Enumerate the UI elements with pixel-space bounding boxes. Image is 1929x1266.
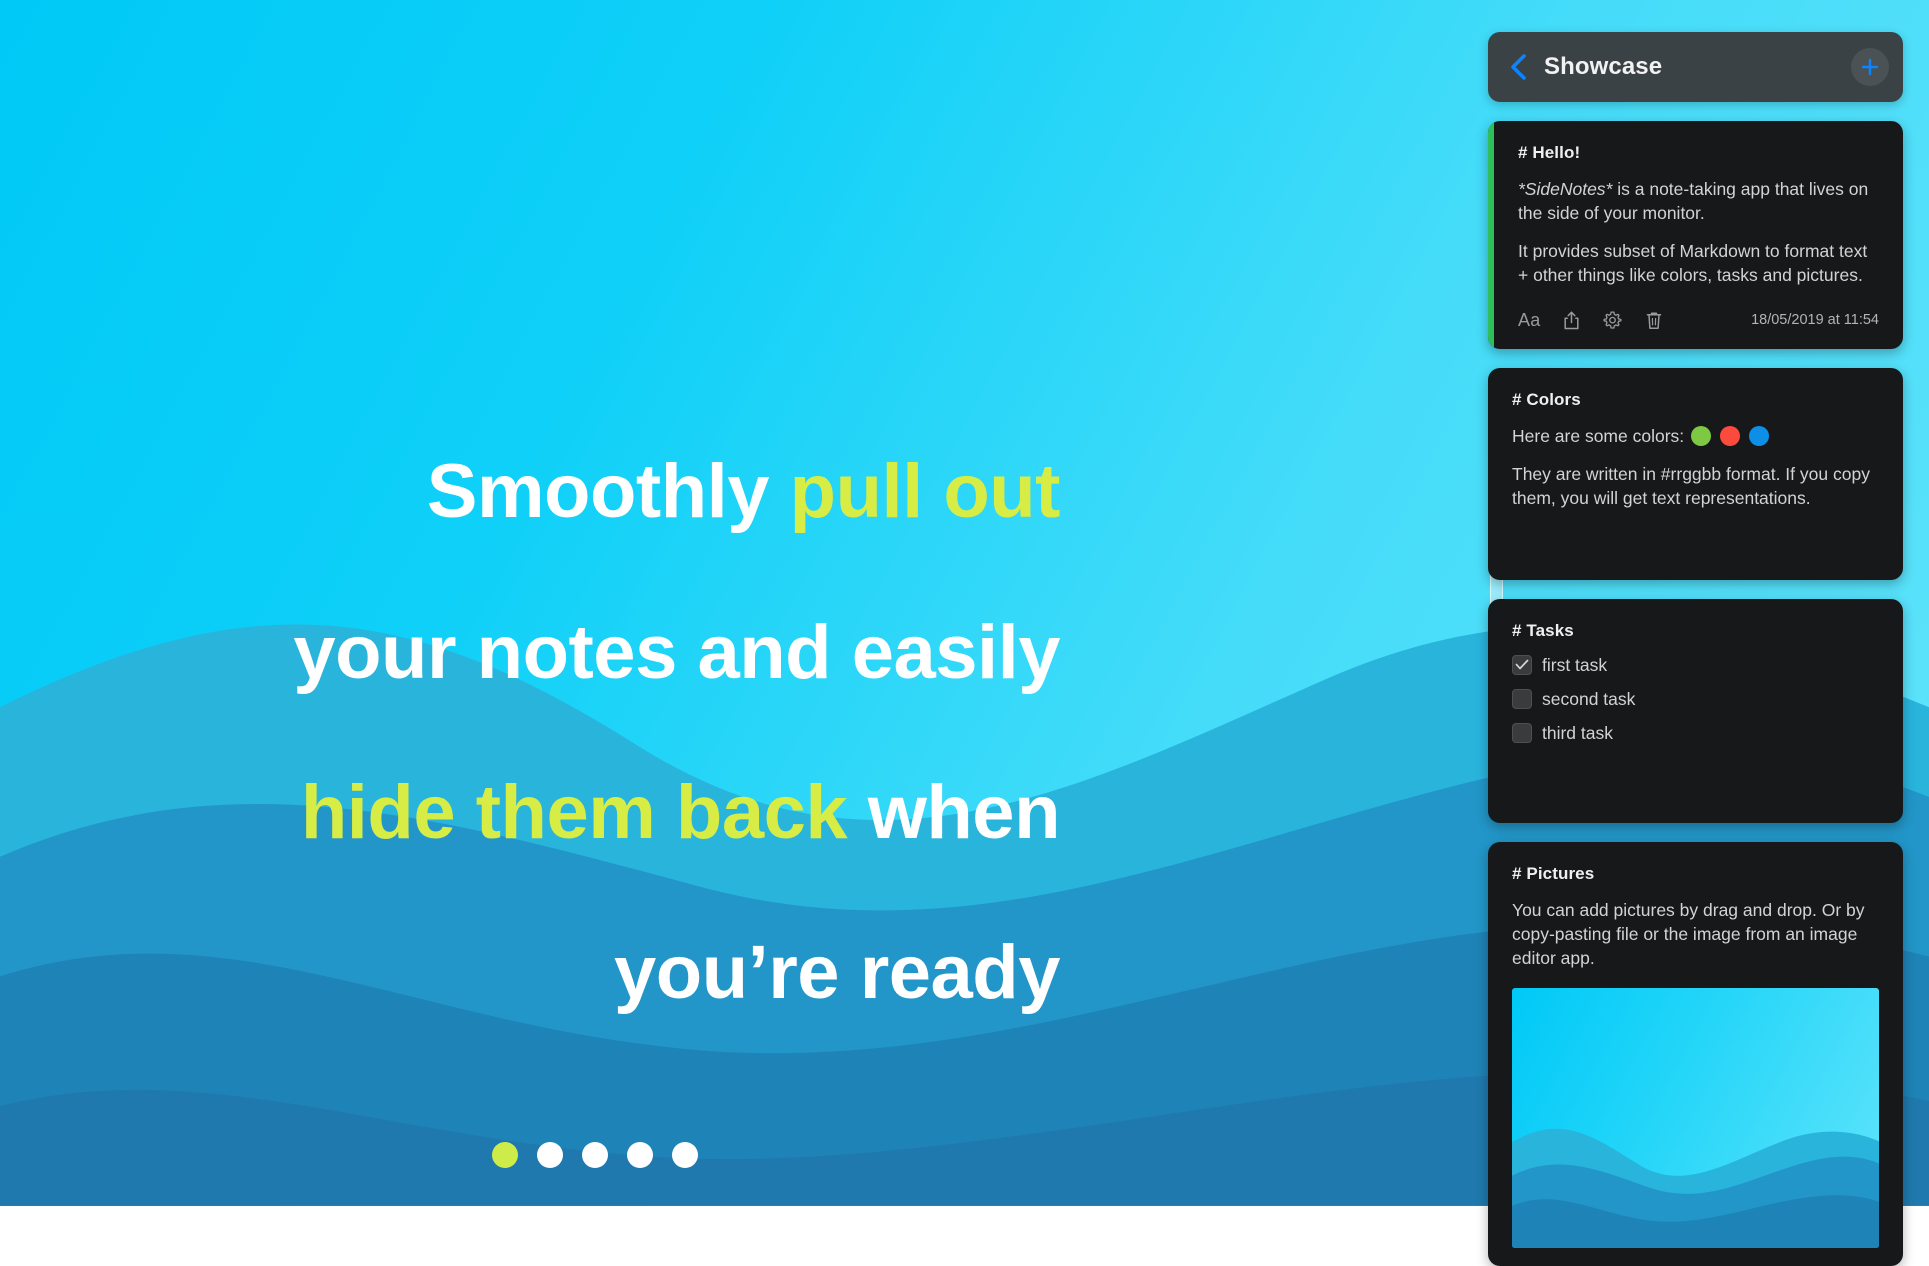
note-heading: # Hello!: [1518, 143, 1879, 163]
note-paragraph: *SideNotes* is a note-taking app that li…: [1518, 177, 1879, 225]
gear-icon[interactable]: [1603, 310, 1623, 331]
note-paragraph: Here are some colors:: [1512, 424, 1879, 448]
note-accent-bar: [1488, 121, 1494, 349]
color-swatch-blue[interactable]: [1749, 426, 1769, 446]
checkbox-unchecked[interactable]: [1512, 723, 1532, 743]
color-swatch-red[interactable]: [1720, 426, 1740, 446]
note-card-pictures[interactable]: # Pictures You can add pictures by drag …: [1488, 842, 1903, 1266]
task-item[interactable]: second task: [1512, 689, 1879, 710]
task-item[interactable]: third task: [1512, 723, 1879, 744]
note-paragraph: They are written in #rrggbb format. If y…: [1512, 462, 1879, 510]
add-note-button[interactable]: [1851, 48, 1889, 86]
headline-line1-plain: Smoothly: [427, 449, 790, 534]
task-label: first task: [1542, 655, 1607, 676]
headline-line-4: you’re ready: [614, 930, 1060, 1015]
page-title: Smoothly pull out your notes and easily …: [0, 372, 1060, 1013]
task-label: third task: [1542, 723, 1613, 744]
note-heading: # Pictures: [1512, 864, 1879, 884]
note-timestamp: 18/05/2019 at 11:54: [1751, 312, 1879, 328]
pager-dot-2[interactable]: [537, 1142, 563, 1168]
headline-line1-highlight: pull out: [790, 449, 1060, 534]
note-heading: # Colors: [1512, 390, 1879, 410]
color-swatch-green[interactable]: [1691, 426, 1711, 446]
note-italic-text: *SideNotes*: [1518, 179, 1612, 199]
pager-dot-1[interactable]: [492, 1142, 518, 1168]
note-card-tasks[interactable]: # Tasks first task second task third tas…: [1488, 599, 1903, 823]
pager-dot-5[interactable]: [672, 1142, 698, 1168]
share-icon[interactable]: [1562, 310, 1582, 331]
headline-line3-highlight: hide them back: [301, 770, 847, 855]
note-card-colors[interactable]: # Colors Here are some colors: They are …: [1488, 368, 1903, 580]
headline-line-1: Smoothly pull out: [427, 449, 1060, 534]
headline-line3-plain: when: [847, 770, 1060, 855]
headline-line-2: your notes and easily: [293, 610, 1060, 695]
panel-header: Showcase: [1488, 32, 1903, 102]
checkbox-unchecked[interactable]: [1512, 689, 1532, 709]
color-swatch-group: [1691, 426, 1769, 446]
note-tool-group: Aa: [1518, 310, 1664, 331]
panel-title: Showcase: [1544, 53, 1851, 81]
trash-icon[interactable]: [1644, 310, 1664, 331]
embedded-image-waves: [1512, 1087, 1879, 1248]
colors-intro-text: Here are some colors:: [1512, 426, 1684, 446]
embedded-image[interactable]: [1512, 988, 1879, 1248]
check-icon: [1515, 659, 1529, 671]
plus-icon: [1860, 57, 1880, 77]
checkbox-checked[interactable]: [1512, 655, 1532, 675]
task-item[interactable]: first task: [1512, 655, 1879, 676]
headline-line-3: hide them back when: [301, 770, 1060, 855]
task-label: second task: [1542, 689, 1635, 710]
chevron-left-icon[interactable]: [1506, 52, 1532, 82]
note-card-hello[interactable]: # Hello! *SideNotes* is a note-taking ap…: [1488, 121, 1903, 349]
pager-dot-3[interactable]: [582, 1142, 608, 1168]
note-toolbar: Aa: [1518, 310, 1879, 331]
note-heading: # Tasks: [1512, 621, 1879, 641]
text-format-icon[interactable]: Aa: [1518, 310, 1541, 331]
sidenotes-panel: Showcase # Hello! *SideNotes* is a note-…: [1488, 32, 1903, 1212]
note-paragraph: You can add pictures by drag and drop. O…: [1512, 898, 1879, 970]
pager-dot-4[interactable]: [627, 1142, 653, 1168]
note-paragraph: It provides subset of Markdown to format…: [1518, 239, 1879, 287]
